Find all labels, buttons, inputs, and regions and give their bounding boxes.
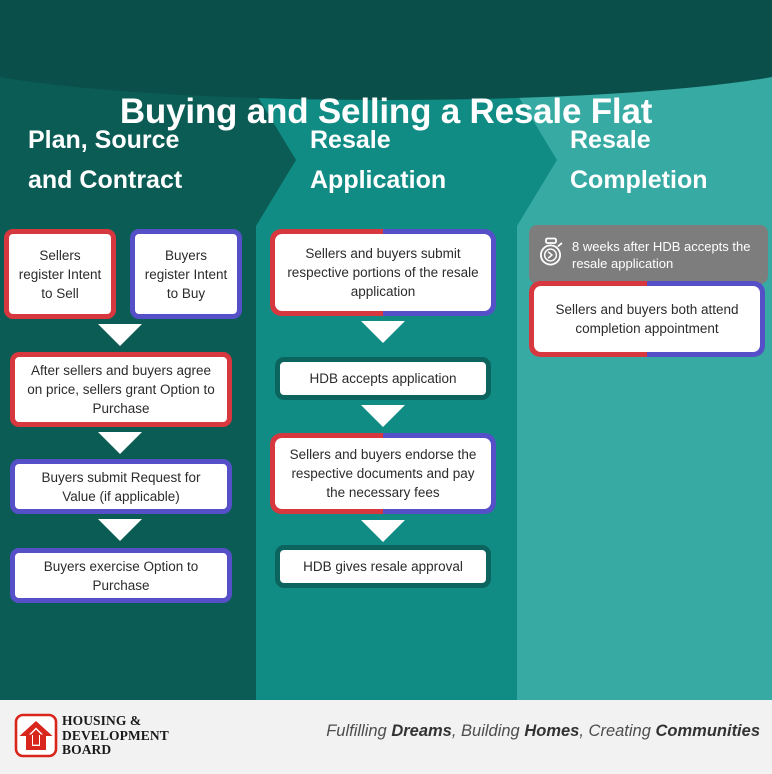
timer-badge-text: 8 weeks after HDB accepts the resale app… xyxy=(572,238,760,272)
step-text: HDB gives resale approval xyxy=(303,557,463,576)
column-heading-line-1: Plan, Source xyxy=(28,120,243,160)
column-heading-line-2: and Contract xyxy=(28,160,243,200)
column-heading-line-2: Completion xyxy=(570,160,765,200)
step-box-buyers-submit-request-for-value: Buyers submit Request for Value (if appl… xyxy=(10,459,232,514)
tagline-bold-dreams: Dreams xyxy=(391,722,452,740)
hdb-org-name-line-2: DEVELOPMENT xyxy=(62,729,169,744)
step-box-hdb-gives-resale-approval: HDB gives resale approval xyxy=(275,545,491,588)
step-text: HDB accepts application xyxy=(309,369,456,388)
step-text-wrap: Sellers and buyers both attend completio… xyxy=(534,286,760,352)
step-text: Buyers exercise Option to Purchase xyxy=(23,557,219,595)
column-heading-plan-source-contract: Plan, Source and Contract xyxy=(28,120,243,200)
infographic-root: Buying and Selling a Resale Flat Plan, S… xyxy=(0,0,772,774)
step-text: Sellers and buyers endorse the respectiv… xyxy=(285,445,481,502)
tagline-bold-homes: Homes xyxy=(524,722,579,740)
stopwatch-icon xyxy=(537,237,565,272)
step-box-sellers-register-intent-to-sell: Sellers register Intent to Sell xyxy=(4,229,116,319)
step-box-option-to-purchase-granted: After sellers and buyers agree on price,… xyxy=(10,352,232,427)
column-heading-line-2: Application xyxy=(310,160,510,200)
column-heading-line-1: Resale xyxy=(310,120,510,160)
tagline-part-2: , Building xyxy=(452,722,524,740)
step-box-hdb-accepts-application: HDB accepts application xyxy=(275,357,491,400)
timer-badge-8-weeks: 8 weeks after HDB accepts the resale app… xyxy=(529,225,768,284)
step-text: Buyers register Intent to Buy xyxy=(143,246,229,303)
step-text-wrap: Sellers and buyers submit respective por… xyxy=(275,234,491,311)
tagline-part-1: Fulfilling xyxy=(326,722,391,740)
step-text: Sellers register Intent to Sell xyxy=(17,246,103,303)
title-banner xyxy=(0,0,772,100)
step-box-buyers-register-intent-to-buy: Buyers register Intent to Buy xyxy=(130,229,242,319)
footer-tagline: Fulfilling Dreams, Building Homes, Creat… xyxy=(326,722,760,741)
column-heading-resale-completion: Resale Completion xyxy=(570,120,765,200)
step-text: Sellers and buyers submit respective por… xyxy=(285,244,481,301)
hdb-org-name-line-1: HOUSING & xyxy=(62,714,169,729)
column-heading-line-1: Resale xyxy=(570,120,765,160)
step-box-endorse-documents-and-pay-fees: Sellers and buyers endorse the respectiv… xyxy=(270,433,496,514)
step-text: Sellers and buyers both attend completio… xyxy=(544,300,750,338)
step-box-submit-resale-application: Sellers and buyers submit respective por… xyxy=(270,229,496,316)
step-box-buyers-exercise-option-to-purchase: Buyers exercise Option to Purchase xyxy=(10,548,232,603)
column-heading-resale-application: Resale Application xyxy=(310,120,510,200)
step-text: Buyers submit Request for Value (if appl… xyxy=(23,468,219,506)
hdb-org-name-line-3: BOARD xyxy=(62,743,169,758)
step-box-attend-completion-appointment: Sellers and buyers both attend completio… xyxy=(529,281,765,357)
step-text-wrap: Sellers and buyers endorse the respectiv… xyxy=(275,438,491,509)
tagline-part-3: , Creating xyxy=(579,722,655,740)
hdb-house-arrow-logo-icon xyxy=(14,712,58,759)
tagline-bold-communities: Communities xyxy=(655,722,760,740)
step-text: After sellers and buyers agree on price,… xyxy=(23,361,219,418)
hdb-org-name: HOUSING & DEVELOPMENT BOARD xyxy=(62,714,169,758)
